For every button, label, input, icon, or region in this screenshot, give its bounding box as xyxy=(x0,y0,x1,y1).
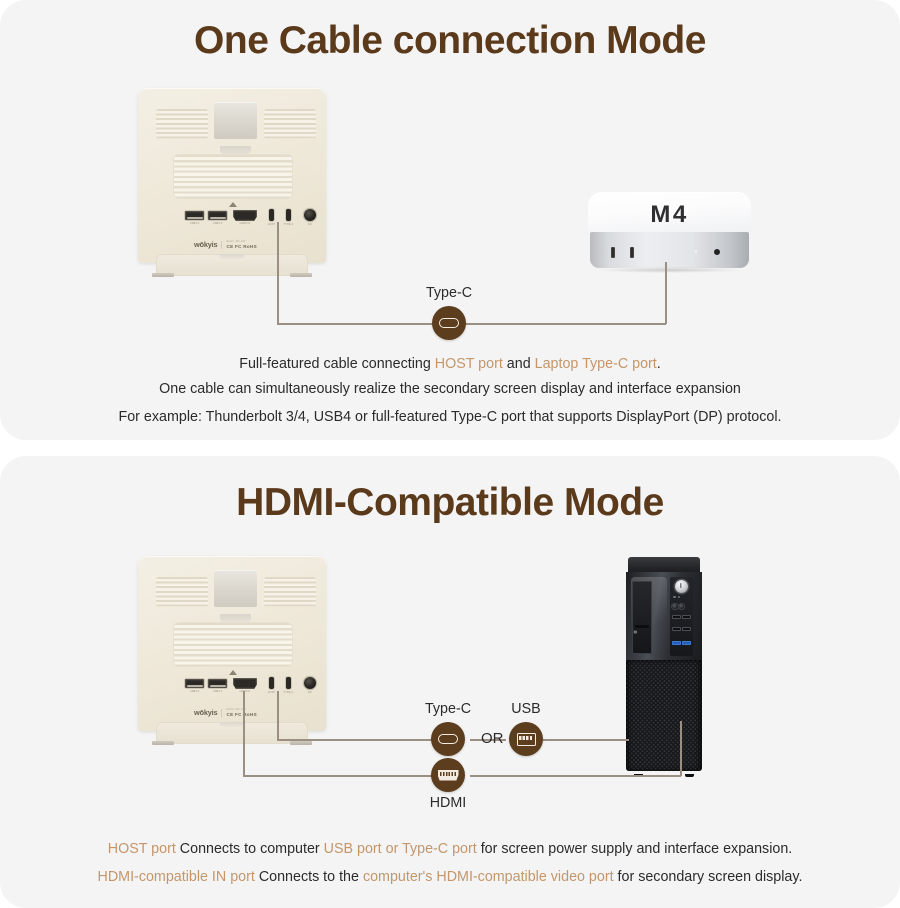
usb-a-port-2 xyxy=(208,211,227,220)
camera-module xyxy=(214,570,257,607)
power-port xyxy=(304,677,316,689)
mini-pc-led-indicator xyxy=(695,250,698,253)
brand-name: wōkyis xyxy=(194,708,217,717)
cable-tower-up-bottom xyxy=(680,721,682,776)
vent-grille-left xyxy=(156,109,208,139)
cable-hdmi-to-badge xyxy=(243,775,433,777)
usb-a-icon xyxy=(517,733,536,746)
brand-divider xyxy=(221,241,222,249)
type-c-port xyxy=(286,209,291,221)
tower-usb-port-1 xyxy=(672,615,681,619)
vent-grille-right xyxy=(264,109,316,139)
tower-mesh-shading xyxy=(626,660,702,771)
type-c-port xyxy=(286,677,291,689)
mini-pc-type-c-port-2 xyxy=(630,247,634,258)
accent-hdmi-in-port: HDMI-compatible IN port xyxy=(98,869,255,885)
cable-usb-to-tower xyxy=(543,739,629,741)
mini-pc-aluminium-body xyxy=(590,232,748,268)
caption-line-2: One cable can simultaneously realize the… xyxy=(0,381,900,397)
usb-badge-label: USB xyxy=(469,701,583,717)
mini-pc-shadow xyxy=(598,267,741,273)
usb-a-port-1 xyxy=(185,679,204,688)
cable-minipc-up-top xyxy=(665,262,667,324)
page-title-top: One Cable connection Mode xyxy=(0,19,900,63)
m4-logo: M4 xyxy=(588,201,751,229)
tower-usb-port-2 xyxy=(682,615,691,619)
m4-mini-pc: M4 xyxy=(588,192,751,271)
monitor-rear-bottom: USB3.0 USB3.0 HDMI IN HOST TYPE-C DC wōk… xyxy=(138,556,326,731)
cable-hdmi-badge-to-tower xyxy=(470,775,681,777)
power-port xyxy=(304,209,316,221)
cable-typec-to-badge xyxy=(277,739,433,741)
warning-triangle-icon xyxy=(229,670,237,675)
tower-top-panel xyxy=(628,557,701,574)
monitor-foot-left xyxy=(152,273,174,277)
cable-monitor-down-top xyxy=(277,222,279,324)
heatsink-grille xyxy=(173,622,293,667)
hdmi-badge xyxy=(431,758,465,792)
usb-a-port-2 xyxy=(208,679,227,688)
cable-hdmi-down-bottom xyxy=(243,691,245,776)
monitor-foot-right xyxy=(290,741,312,745)
tower-brand-logo: ⌗ xyxy=(634,630,637,637)
caption-line-1: Full-featured cable connecting HOST port… xyxy=(0,356,900,372)
brand-divider xyxy=(221,709,222,717)
accent-computer-hdmi-video-port: computer's HDMI-compatible video port xyxy=(363,869,614,885)
desktop-tower: ⌗ xyxy=(626,557,702,777)
host-type-c-port xyxy=(269,209,274,221)
hdmi-icon xyxy=(438,770,459,781)
cert-logos: CE FC RoHS xyxy=(226,712,257,717)
tower-foot-right xyxy=(685,774,694,777)
cable-typec-down-bottom xyxy=(277,691,279,740)
product-infographic-page: One Cable connection Mode USB3.0 USB3.0 … xyxy=(0,0,900,908)
heatsink-grille xyxy=(173,154,293,199)
page-title-bottom: HDMI-Compatible Mode xyxy=(0,481,900,525)
optical-drive-bay xyxy=(632,581,652,654)
vent-grille-left xyxy=(156,577,208,607)
panel-one-cable-mode: One Cable connection Mode USB3.0 USB3.0 … xyxy=(0,0,900,440)
accent-host-port: HOST port xyxy=(108,841,176,857)
monitor-stand-tab xyxy=(220,254,244,259)
type-c-badge-label: Type-C xyxy=(392,285,506,301)
accent-laptop-type-c-port: Laptop Type-C port xyxy=(535,356,657,372)
accent-usb-or-typec-port: USB port or Type-C port xyxy=(324,841,477,857)
hdmi-in-port xyxy=(233,210,257,221)
certification-marks: Model: WK-16P CE FC RoHS xyxy=(226,708,257,717)
monitor-foot-right xyxy=(290,273,312,277)
optical-drive-slot xyxy=(635,625,649,628)
tower-usb-port-3 xyxy=(672,627,681,631)
monitor-rear-top: USB3.0 USB3.0 HDMI IN HOST TYPE-C DC wōk… xyxy=(138,88,326,263)
tower-usb-port-4 xyxy=(682,627,691,631)
tower-power-led xyxy=(678,596,680,598)
panel-hdmi-compatible-mode: HDMI-Compatible Mode USB3.0 USB3.0 HDMI … xyxy=(0,456,900,908)
brand-name: wōkyis xyxy=(194,240,217,249)
vent-grille-right xyxy=(264,577,316,607)
hdmi-badge-label: HDMI xyxy=(391,795,505,811)
mini-pc-audio-jack xyxy=(714,249,720,255)
type-c-icon xyxy=(438,734,458,744)
cert-logos: CE FC RoHS xyxy=(226,244,257,249)
mini-pc-top-shell: M4 xyxy=(588,192,751,233)
usb-a-port-1 xyxy=(185,211,204,220)
warning-triangle-icon xyxy=(229,202,237,207)
tower-usb3-port-2 xyxy=(682,641,691,645)
bottom-caption-line-2: HDMI-compatible IN port Connects to the … xyxy=(0,869,900,885)
brand-row: wōkyis Model: WK-16P CE FC RoHS xyxy=(194,240,257,249)
bottom-caption-line-1: HOST port Connects to computer USB port … xyxy=(0,841,900,857)
mini-pc-type-c-port-1 xyxy=(611,247,615,258)
tower-power-button[interactable] xyxy=(675,580,688,593)
usb-badge xyxy=(509,722,543,756)
hdmi-in-port xyxy=(233,678,257,689)
type-c-badge xyxy=(431,722,465,756)
tower-hdd-led xyxy=(673,596,675,598)
or-separator-label: OR xyxy=(481,730,504,747)
camera-module xyxy=(214,102,257,139)
cable-horizontal-right-top xyxy=(462,323,666,325)
accent-host-port: HOST port xyxy=(435,356,503,372)
monitor-foot-left xyxy=(152,741,174,745)
monitor-stand-tab xyxy=(220,722,244,727)
brand-row: wōkyis Model: WK-16P CE FC RoHS xyxy=(194,708,257,717)
certification-marks: Model: WK-16P CE FC RoHS xyxy=(226,240,257,249)
tower-usb3-port-1 xyxy=(672,641,681,645)
type-c-icon xyxy=(439,318,459,328)
caption-line-3: For example: Thunderbolt 3/4, USB4 or fu… xyxy=(0,409,900,425)
host-type-c-port xyxy=(269,677,274,689)
type-c-badge xyxy=(432,306,466,340)
